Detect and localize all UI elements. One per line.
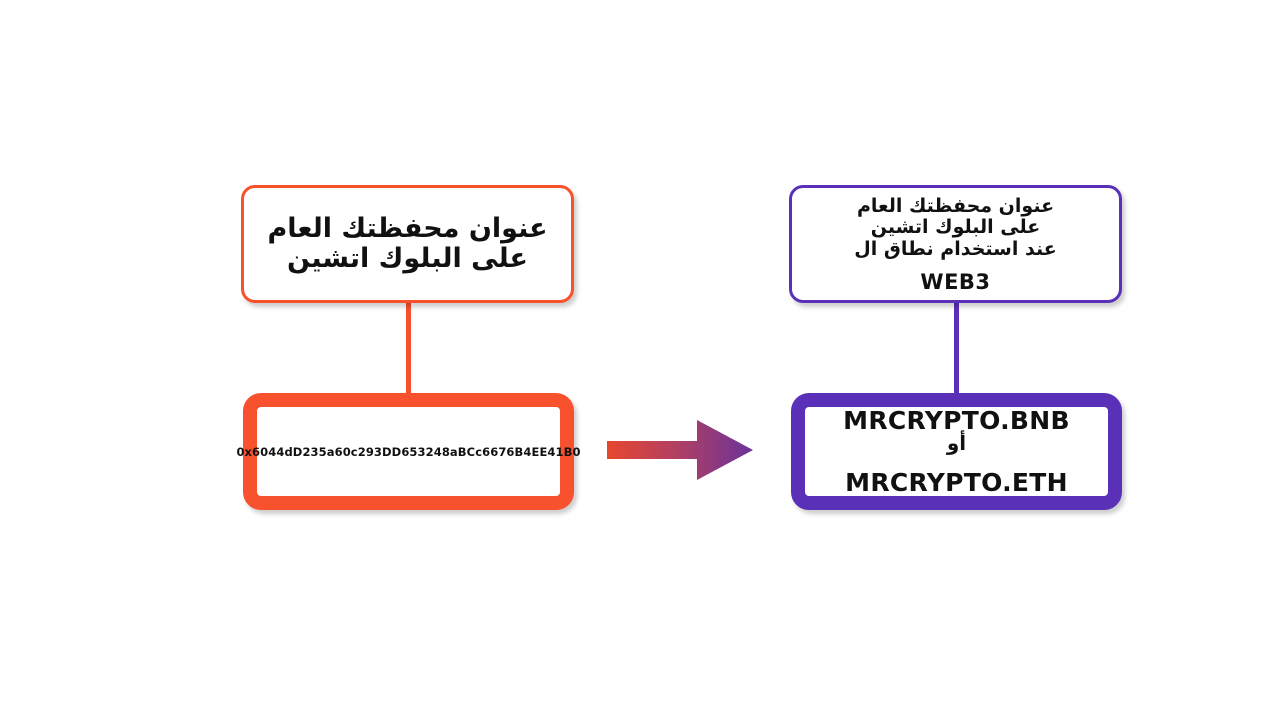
web3-title-line-2: على البلوك اتشين — [871, 217, 1041, 238]
wallet-title-line-1: عنوان محفظتك العام — [267, 214, 547, 244]
wallet-title-line-2: على البلوك اتشين — [287, 244, 528, 274]
web3-title-line-1: عنوان محفظتك العام — [857, 196, 1054, 217]
web3-domain-separator: أو — [947, 433, 966, 453]
connector-web3-title-to-domains — [954, 296, 959, 401]
web3-title-line-3: عند استخدام نطاق ال — [854, 239, 1056, 260]
node-wallet-address-value: 0x6044dD235a60c293DD653248aBCc6676B4EE41… — [243, 393, 574, 510]
node-web3-domain-names: MRCRYPTO.BNB أو MRCRYPTO.ETH — [791, 393, 1122, 510]
web3-domain-secondary: MRCRYPTO.ETH — [845, 469, 1068, 497]
node-web3-domain-title: عنوان محفظتك العام على البلوك اتشين عند … — [789, 185, 1122, 303]
wallet-address-text: 0x6044dD235a60c293DD653248aBCc6676B4EE41… — [236, 445, 580, 459]
diagram-canvas: عنوان محفظتك العام على البلوك اتشين 0x60… — [0, 0, 1280, 720]
transformation-arrow-icon — [607, 418, 753, 482]
web3-badge-label: WEB3 — [920, 270, 990, 294]
node-wallet-address-title: عنوان محفظتك العام على البلوك اتشين — [241, 185, 574, 303]
connector-wallet-title-to-address — [406, 296, 411, 401]
